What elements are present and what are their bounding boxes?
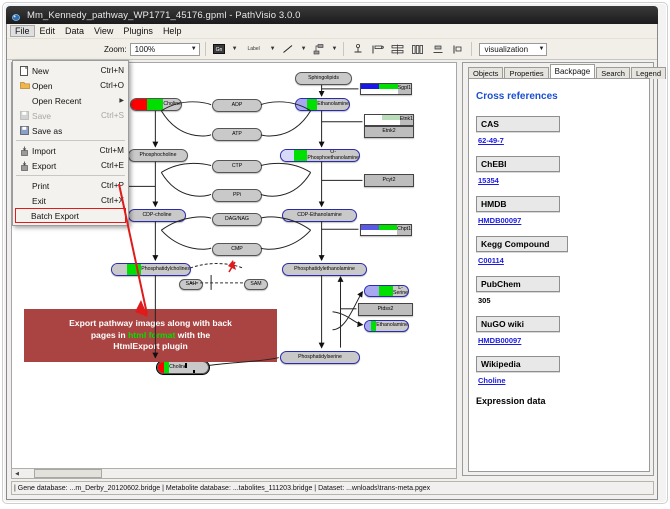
menu-item-accelerator: Ctrl+P bbox=[95, 181, 124, 190]
node-fill bbox=[158, 362, 169, 373]
expression-data-heading: Expression data bbox=[476, 396, 645, 406]
chevron-down-icon[interactable]: ▼ bbox=[270, 46, 276, 52]
xref-label-chebi: ChEBI bbox=[476, 156, 560, 172]
pathway-node-etnk1[interactable]: Etnk1 bbox=[364, 114, 414, 126]
node-label: CTP bbox=[232, 164, 242, 169]
chevron-down-icon[interactable]: ▼ bbox=[332, 46, 338, 52]
node-fill bbox=[365, 286, 393, 296]
menu-item-accelerator: Ctrl+M bbox=[94, 146, 124, 155]
chevron-down-icon[interactable]: ▼ bbox=[232, 46, 238, 52]
pathway-node-phosphatidylcholines[interactable]: Phosphatidylcholines bbox=[111, 263, 191, 276]
node-label: O-Phosphoethanolamine bbox=[307, 150, 359, 160]
node-fill bbox=[112, 264, 141, 275]
menu-item-label: Exit bbox=[32, 196, 95, 206]
pathway-node-cmp[interactable]: CMP bbox=[212, 243, 262, 256]
selection-handle[interactable] bbox=[185, 363, 188, 368]
node-label: Ethanolamine bbox=[317, 102, 349, 107]
pathway-node-sam[interactable]: SAM bbox=[244, 279, 268, 290]
status-bar: | Gene database: ...m_Derby_20120602.bri… bbox=[11, 481, 654, 495]
xref-label-cas: CAS bbox=[476, 116, 560, 132]
node-fill bbox=[281, 150, 307, 161]
xref-value-kegg-compound[interactable]: C00114 bbox=[478, 256, 645, 265]
save-disk-icon bbox=[17, 111, 32, 120]
xref-value-chebi[interactable]: 15354 bbox=[478, 176, 645, 185]
node-label: CDP-Ethanolamine bbox=[297, 213, 341, 218]
pathway-node-l-serine[interactable]: L-Serine bbox=[364, 285, 409, 297]
node-label: DAG/NAG bbox=[225, 217, 249, 222]
selection-handle[interactable] bbox=[193, 370, 196, 375]
pathway-node-atp[interactable]: ATP bbox=[212, 128, 262, 141]
file-menu-item-new[interactable]: NewCtrl+N bbox=[13, 63, 128, 78]
file-menu-dropdown[interactable]: NewCtrl+NOpenCtrl+OOpen Recent▶SaveCtrl+… bbox=[12, 60, 129, 226]
app-window: Mm_Kennedy_pathway_WP1771_45176.gpml - P… bbox=[0, 0, 670, 509]
scrollbar-thumb[interactable] bbox=[34, 469, 102, 478]
pathvisio-icon bbox=[11, 10, 22, 21]
node-label: L-Serine bbox=[393, 286, 408, 296]
toolbar-separator bbox=[343, 42, 344, 56]
zoom-value: 100% bbox=[135, 45, 155, 54]
menu-item-label: Open Recent bbox=[32, 96, 119, 106]
menu-item-help[interactable]: Help bbox=[158, 25, 187, 37]
toolbar-separator bbox=[205, 42, 206, 56]
node-label: Phosphatidylserine bbox=[298, 355, 342, 360]
pathway-node-ptdss2[interactable]: Ptdss2 bbox=[358, 303, 413, 316]
menu-item-label: Batch Export bbox=[18, 211, 123, 221]
callout-line-2-post: with the bbox=[175, 330, 210, 340]
xref-value-wikipedia[interactable]: Choline bbox=[478, 376, 645, 385]
menu-bar: FileEditDataViewPluginsHelp bbox=[7, 24, 657, 39]
node-fill bbox=[296, 99, 317, 110]
menu-item-plugins[interactable]: Plugins bbox=[118, 25, 158, 37]
pathway-node-cdp-choline[interactable]: CDP-choline bbox=[128, 209, 186, 222]
node-label: Chpt1 bbox=[397, 227, 411, 232]
node-fill bbox=[131, 99, 163, 110]
pathway-node-sgpl1[interactable]: Sgpl1 bbox=[360, 83, 412, 95]
node-fill bbox=[365, 321, 376, 331]
zoom-combo[interactable]: 100% ▼ bbox=[130, 43, 200, 56]
pathway-node-sah[interactable]: SAH bbox=[179, 279, 203, 290]
menu-item-label: Save as bbox=[32, 126, 124, 136]
menu-item-accelerator: Ctrl+O bbox=[94, 81, 124, 90]
cross-reference-list: CAS62-49-7ChEBI15354HMDBHMDB00097Kegg Co… bbox=[476, 116, 645, 385]
node-label: Ethanolamine bbox=[376, 323, 408, 328]
callout-line-2-pre: pages in bbox=[91, 330, 128, 340]
menu-item-label: Open bbox=[32, 81, 94, 91]
pathway-node-choline-bottom[interactable]: Choline bbox=[157, 361, 209, 374]
align-middle-icon[interactable] bbox=[389, 41, 406, 57]
node-label: Sgpl1 bbox=[398, 86, 411, 91]
stack-icon[interactable] bbox=[429, 41, 446, 57]
pathway-node-choline-top[interactable]: Choline bbox=[130, 98, 182, 111]
node-fill bbox=[361, 225, 397, 235]
backpage-panel: Cross references CAS62-49-7ChEBI15354HMD… bbox=[468, 78, 650, 472]
xref-label-wikipedia: Wikipedia bbox=[476, 356, 560, 372]
xref-label-hmdb: HMDB bbox=[476, 196, 560, 212]
menu-item-label: New bbox=[32, 66, 95, 76]
file-menu-item-open-recent[interactable]: Open Recent▶ bbox=[13, 93, 128, 108]
pathway-node-chpt1[interactable]: Chpt1 bbox=[360, 224, 412, 236]
tab-backpage[interactable]: Backpage bbox=[550, 64, 596, 79]
window-title: Mm_Kennedy_pathway_WP1771_45176.gpml - P… bbox=[27, 10, 301, 21]
file-menu-item-export[interactable]: ExportCtrl+E bbox=[13, 158, 128, 173]
node-label: Phosphatidylethanolamine bbox=[294, 267, 355, 272]
menu-item-file[interactable]: File bbox=[10, 25, 35, 37]
callout-line-2-emphasis: html format bbox=[128, 330, 175, 340]
label-tool-icon[interactable]: Label bbox=[242, 41, 266, 57]
chevron-down-icon[interactable]: ▼ bbox=[301, 46, 307, 52]
open-folder-icon bbox=[17, 81, 32, 90]
node-label: Phosphatidylcholines bbox=[141, 267, 190, 272]
save-as-icon bbox=[17, 126, 32, 135]
new-document-icon bbox=[17, 66, 32, 76]
node-label: Sphingolipids bbox=[308, 76, 339, 81]
pathway-node-ctp[interactable]: CTP bbox=[212, 160, 262, 173]
visualization-combo[interactable]: visualization ▼ bbox=[479, 43, 547, 56]
svg-text:Gn: Gn bbox=[216, 47, 223, 53]
file-menu-item-save[interactable]: SaveCtrl+S bbox=[13, 108, 128, 123]
node-label: ADP bbox=[232, 103, 243, 108]
chevron-down-icon: ▼ bbox=[191, 46, 197, 52]
node-label: Phosphocholine bbox=[140, 153, 177, 158]
node-label: ATP bbox=[232, 132, 242, 137]
pathway-node-pcyt2[interactable]: Pcyt2 bbox=[364, 174, 414, 187]
annotation-callout: Export pathway images along with back pa… bbox=[24, 309, 277, 362]
scroll-left-icon[interactable]: ◀ bbox=[12, 471, 22, 477]
node-label: Pcyt2 bbox=[383, 178, 396, 183]
pathway-node-ppi[interactable]: PPi bbox=[212, 189, 262, 202]
xref-value-hmdb[interactable]: HMDB00097 bbox=[478, 216, 645, 225]
pathway-node-ethanolamine-2[interactable]: Ethanolamine bbox=[364, 320, 409, 332]
line-tool-icon[interactable] bbox=[280, 41, 297, 57]
pathway-node-dag-nag[interactable]: DAG/NAG bbox=[212, 213, 262, 226]
pathway-node-phosphocholine[interactable]: Phosphocholine bbox=[128, 149, 188, 162]
callout-line-3: HtmlExport plugin bbox=[113, 341, 187, 351]
menu-item-label: Import bbox=[32, 146, 94, 156]
node-label: CMP bbox=[231, 247, 243, 252]
chevron-right-icon: ▶ bbox=[119, 97, 124, 104]
status-text: | Gene database: ...m_Derby_20120602.bri… bbox=[14, 485, 430, 492]
align-center-icon[interactable] bbox=[409, 41, 426, 57]
export-icon bbox=[17, 161, 32, 171]
node-label: SAH bbox=[186, 282, 197, 287]
node-fill bbox=[365, 115, 400, 125]
datanode-tool-icon[interactable]: Gn bbox=[211, 41, 228, 57]
visualization-value: visualization bbox=[484, 45, 528, 54]
xref-value-pubchem: 305 bbox=[478, 296, 645, 305]
tool-bar: Zoom: 100% ▼ Gn ▼ Label ▼ ▼ ▼ bbox=[7, 39, 657, 60]
menu-item-edit[interactable]: Edit bbox=[35, 25, 61, 37]
file-menu-item-batch-export[interactable]: Batch Export bbox=[15, 208, 126, 223]
xref-label-kegg-compound: Kegg Compound bbox=[476, 236, 568, 252]
pathway-node-etnk2[interactable]: Etnk2 bbox=[364, 126, 414, 138]
align-left-icon[interactable] bbox=[369, 41, 386, 57]
label-tool-text: Label bbox=[248, 46, 260, 52]
xref-value-nugo-wiki[interactable]: HMDB00097 bbox=[478, 336, 645, 345]
menu-item-label: Export bbox=[32, 161, 95, 171]
node-label: Etnk1 bbox=[400, 117, 413, 122]
callout-line-1: Export pathway images along with back bbox=[69, 318, 232, 328]
pathway-node-phosphatidylethanolamine[interactable]: Phosphatidylethanolamine bbox=[282, 263, 367, 276]
file-menu-item-open[interactable]: OpenCtrl+O bbox=[13, 78, 128, 93]
anchor-tool-icon[interactable] bbox=[349, 41, 366, 57]
menu-item-accelerator: Ctrl+N bbox=[95, 66, 124, 75]
node-label: Choline bbox=[163, 102, 181, 107]
pathway-node-sphingolipids[interactable]: Sphingolipids bbox=[295, 72, 352, 85]
pathway-node-adp[interactable]: ADP bbox=[212, 99, 262, 112]
menu-item-accelerator: Ctrl+X bbox=[95, 196, 124, 205]
title-bar: Mm_Kennedy_pathway_WP1771_45176.gpml - P… bbox=[6, 6, 658, 24]
menu-item-label: Print bbox=[32, 181, 95, 191]
cross-references-heading: Cross references bbox=[476, 91, 645, 102]
menu-separator bbox=[16, 175, 125, 176]
menu-item-data[interactable]: Data bbox=[60, 25, 89, 37]
pathway-node-phosphatidylserine[interactable]: Phosphatidylserine bbox=[280, 351, 360, 364]
node-label: Ptdss2 bbox=[378, 307, 394, 312]
file-menu-item-save-as[interactable]: Save as bbox=[13, 123, 128, 138]
node-label: Etnk2 bbox=[382, 129, 395, 134]
menu-item-view[interactable]: View bbox=[89, 25, 118, 37]
menu-separator bbox=[16, 140, 125, 141]
xref-label-pubchem: PubChem bbox=[476, 276, 560, 292]
toolbar-separator bbox=[471, 42, 472, 56]
side-panel: ObjectsPropertiesBackpageSearchLegend Cr… bbox=[462, 62, 654, 476]
group-icon[interactable] bbox=[449, 41, 466, 57]
file-menu-item-print[interactable]: PrintCtrl+P bbox=[13, 178, 128, 193]
file-menu-item-exit[interactable]: ExitCtrl+X bbox=[13, 193, 128, 208]
app-body: FileEditDataViewPluginsHelp Zoom: 100% ▼… bbox=[6, 24, 658, 500]
node-label: SAM bbox=[250, 282, 261, 287]
menu-item-accelerator: Ctrl+E bbox=[95, 161, 124, 170]
chevron-down-icon: ▼ bbox=[539, 46, 545, 52]
xref-label-nugo-wiki: NuGO wiki bbox=[476, 316, 560, 332]
node-label: PPi bbox=[233, 193, 241, 198]
menu-item-accelerator: Ctrl+S bbox=[95, 111, 124, 120]
zoom-label: Zoom: bbox=[104, 45, 127, 54]
canvas-hscrollbar[interactable]: ◀ bbox=[11, 468, 457, 479]
interaction-tool-icon[interactable] bbox=[311, 41, 328, 57]
file-menu-item-import[interactable]: ImportCtrl+M bbox=[13, 143, 128, 158]
node-fill bbox=[361, 84, 398, 94]
xref-value-cas[interactable]: 62-49-7 bbox=[478, 136, 645, 145]
menu-item-label: Save bbox=[32, 111, 95, 121]
pathway-node-cdp-ethanolamine[interactable]: CDP-Ethanolamine bbox=[282, 209, 357, 222]
import-icon bbox=[17, 146, 32, 156]
pathway-node-ethanolamine-1[interactable]: Ethanolamine bbox=[295, 98, 350, 111]
node-label: CDP-choline bbox=[142, 213, 171, 218]
pathway-node-o-phosphoethanolamine[interactable]: O-Phosphoethanolamine bbox=[280, 149, 360, 162]
